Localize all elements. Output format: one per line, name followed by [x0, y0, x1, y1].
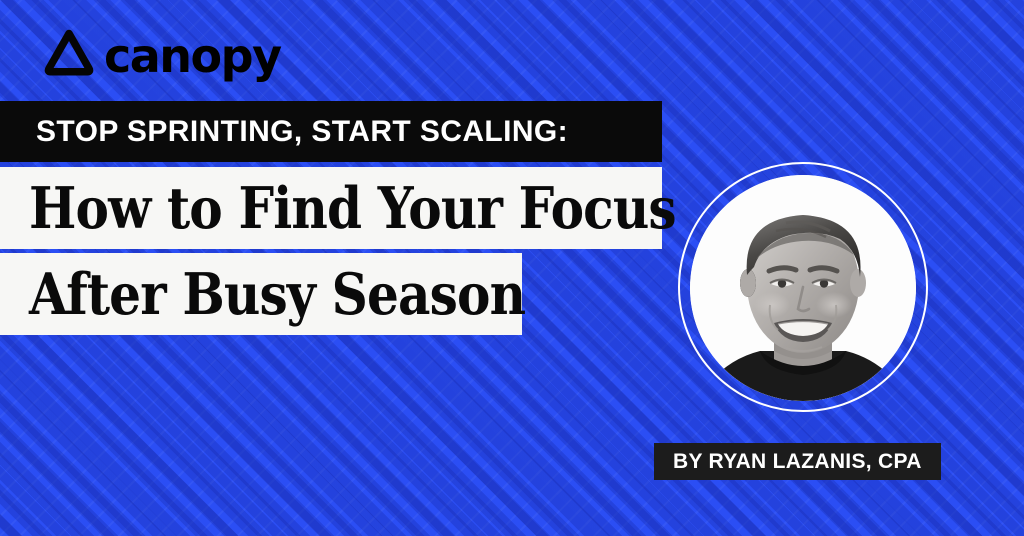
headline-bar-line-1: How to Find Your Focus	[0, 167, 662, 249]
eyebrow-text: STOP SPRINTING, START SCALING:	[0, 115, 568, 149]
portrait-circle	[690, 175, 916, 401]
blog-banner: canopy STOP SPRINTING, START SCALING: Ho…	[0, 0, 1024, 536]
headline-bar-line-2: After Busy Season	[0, 253, 522, 335]
canopy-logo[interactable]: canopy	[44, 28, 281, 81]
canopy-wordmark: canopy	[104, 33, 281, 79]
author-portrait	[678, 162, 928, 412]
author-byline-badge: BY RYAN LAZANIS, CPA	[654, 443, 941, 480]
portrait-photo	[690, 175, 916, 401]
headline-text-line-2: After Busy Season	[0, 266, 525, 323]
author-byline-text: BY RYAN LAZANIS, CPA	[673, 450, 922, 474]
headline-text-line-1: How to Find Your Focus	[0, 180, 676, 237]
eyebrow-bar: STOP SPRINTING, START SCALING:	[0, 101, 662, 162]
canopy-triangle-logo-icon	[44, 28, 94, 81]
